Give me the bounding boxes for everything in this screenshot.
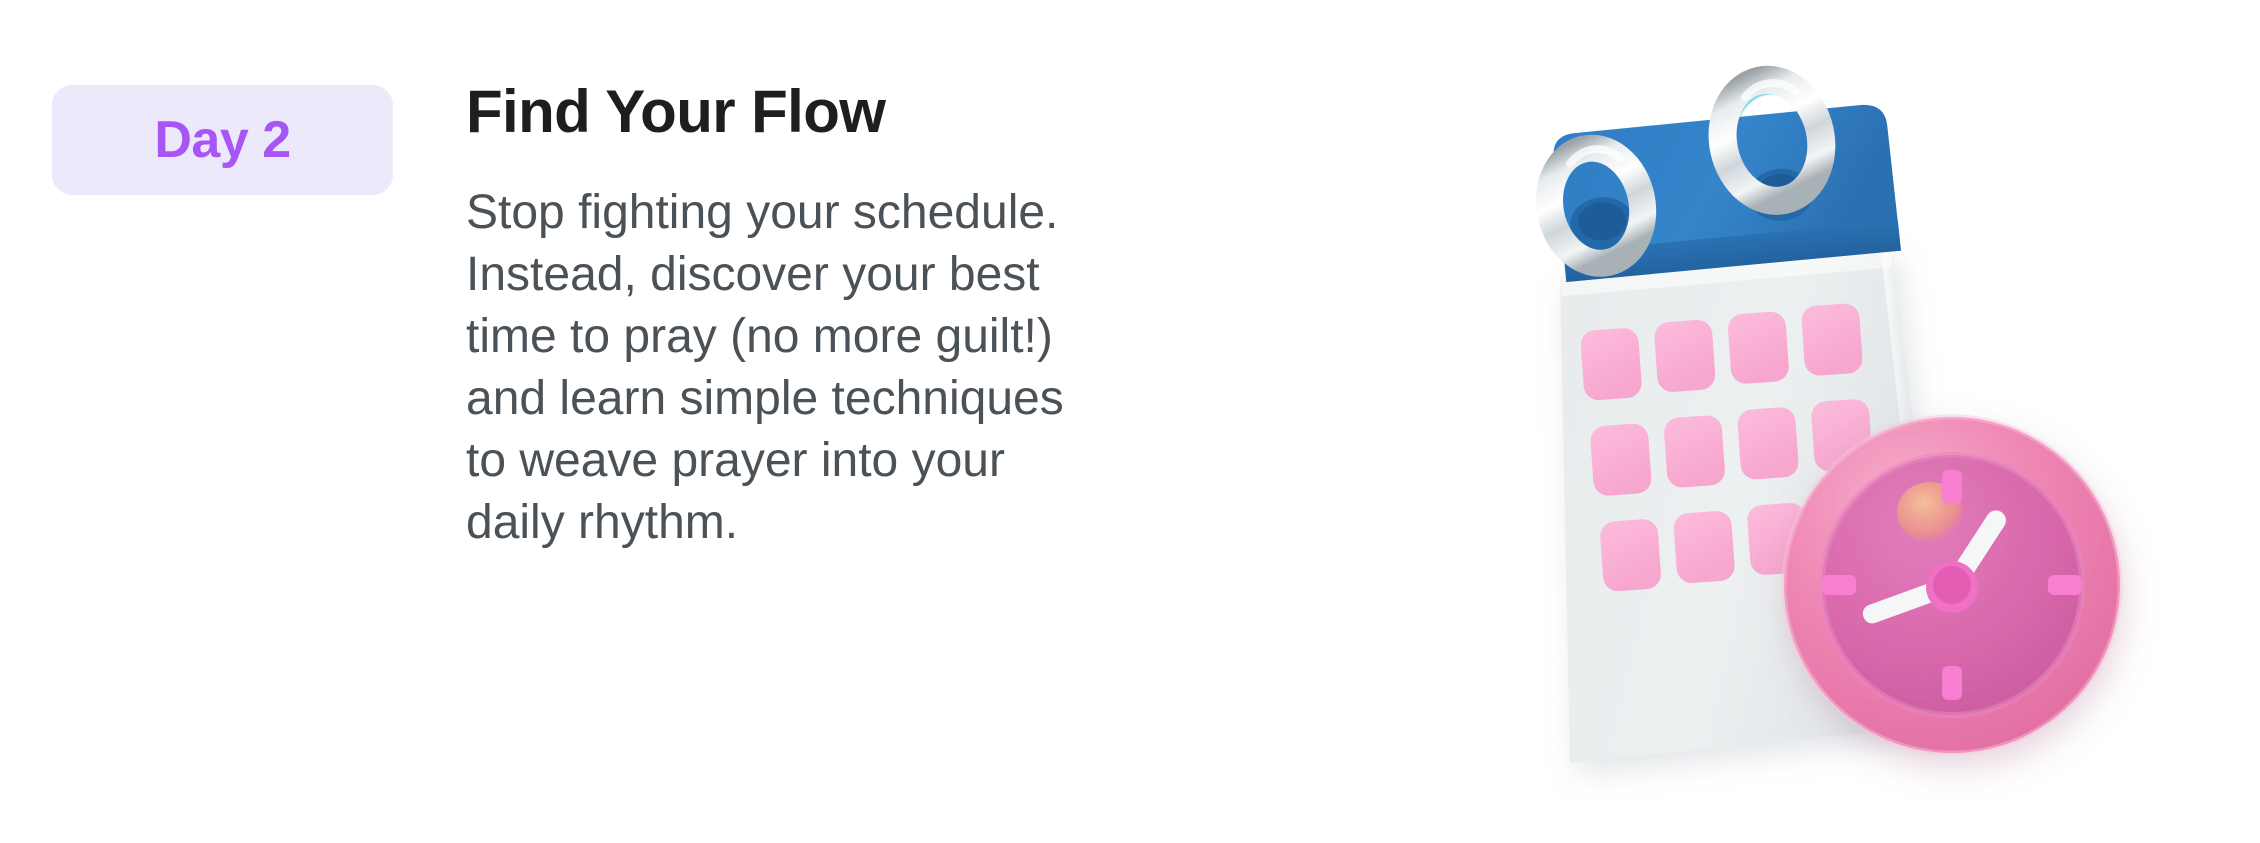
day-badge: Day 2 <box>52 85 393 195</box>
calendar-clock-illustration <box>1500 20 2220 820</box>
clock-tick-9 <box>1822 575 1856 595</box>
lesson-card: Day 2 Find Your Flow Stop fighting your … <box>0 0 2260 843</box>
lesson-description: Stop fighting your schedule. Instead, di… <box>466 182 1111 554</box>
calendar-date-cell <box>1589 423 1652 497</box>
calendar-date-cell <box>1599 518 1662 592</box>
calendar-date-cell <box>1737 406 1800 480</box>
lesson-text-column: Find Your Flow Stop fighting your schedu… <box>466 80 1166 554</box>
calendar-date-cell <box>1727 311 1790 385</box>
calendar-date-cell <box>1673 510 1736 584</box>
clock-tick-6 <box>1942 666 1962 700</box>
clock-graphic <box>1784 417 2120 753</box>
clock-tick-3 <box>2048 575 2082 595</box>
day-badge-label: Day 2 <box>154 114 290 166</box>
clock-center-hub-inner <box>1933 566 1971 604</box>
calendar-date-cell <box>1580 327 1643 401</box>
calendar-date-cell <box>1663 415 1726 489</box>
calendar-date-cell <box>1653 319 1716 393</box>
clock-tick-12 <box>1942 470 1962 504</box>
calendar-date-cell <box>1801 303 1864 377</box>
lesson-title: Find Your Flow <box>466 80 1166 144</box>
